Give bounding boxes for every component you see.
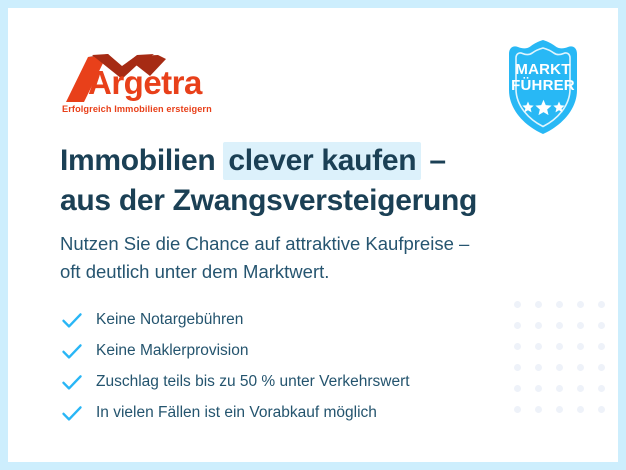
argetra-logo: Argetra Erfolgreich Immobilien ersteiger… xyxy=(62,52,212,120)
check-icon xyxy=(60,401,84,425)
headline-suffix: – xyxy=(421,144,445,177)
list-item: Keine Maklerprovision xyxy=(60,335,530,366)
check-icon xyxy=(60,339,84,363)
list-item-label: Keine Maklerprovision xyxy=(96,343,249,359)
headline: Immobilien clever kaufen – aus der Zwang… xyxy=(60,141,530,220)
logo-tagline: Erfolgreich Immobilien ersteigern xyxy=(62,104,212,114)
list-item: Zuschlag teils bis zu 50 % unter Verkehr… xyxy=(60,366,530,397)
list-item-label: Zuschlag teils bis zu 50 % unter Verkehr… xyxy=(96,374,410,390)
headline-line-2: aus der Zwangsversteigerung xyxy=(60,181,530,221)
check-icon xyxy=(60,308,84,332)
subheadline: Nutzen Sie die Chance auf attraktive Kau… xyxy=(60,230,560,287)
headline-prefix: Immobilien xyxy=(60,144,223,177)
logo-wordmark: Argetra xyxy=(88,66,202,99)
headline-highlight: clever kaufen xyxy=(223,142,421,180)
list-item: Keine Notargebühren xyxy=(60,304,530,335)
list-item-label: In vielen Fällen ist ein Vorabkauf mögli… xyxy=(96,405,377,421)
market-leader-badge: MARKT FÜHRER xyxy=(497,40,589,136)
headline-line-1: Immobilien clever kaufen – xyxy=(60,141,530,181)
feature-list: Keine Notargebühren Keine Maklerprovisio… xyxy=(60,304,530,428)
check-icon xyxy=(60,370,84,394)
list-item-label: Keine Notargebühren xyxy=(96,312,243,328)
list-item: In vielen Fällen ist ein Vorabkauf mögli… xyxy=(60,397,530,428)
subheadline-line-1: Nutzen Sie die Chance auf attraktive Kau… xyxy=(60,230,560,258)
subheadline-line-2: oft deutlich unter dem Marktwert. xyxy=(60,258,560,286)
shield-icon xyxy=(497,40,589,136)
promo-banner: Argetra Erfolgreich Immobilien ersteiger… xyxy=(0,0,626,470)
